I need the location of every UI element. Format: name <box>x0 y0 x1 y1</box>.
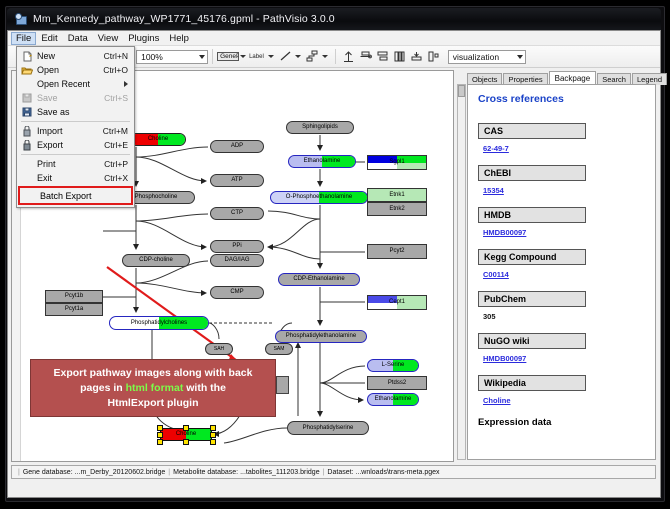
window-body: File Edit Data View Plugins Help Zoom: 1… <box>7 30 661 498</box>
node-pcyt1b[interactable]: Pcyt1b <box>45 290 103 303</box>
callout-line-2-pre: pages in <box>80 382 126 394</box>
chevron-down-icon <box>199 55 205 59</box>
save-icon <box>17 93 37 103</box>
selection-handle-w[interactable] <box>157 432 163 438</box>
xref-label-wikipedia: Wikipedia <box>478 375 586 391</box>
file-menu-batch-export[interactable]: Batch Export <box>18 186 133 205</box>
align-middle-icon[interactable] <box>358 49 373 64</box>
file-menu-open-recent-label: Open Recent <box>37 79 124 89</box>
status-gene-db-value: ...m_Derby_20120602.bridge <box>75 469 166 476</box>
callout-anchor <box>276 376 289 394</box>
stack-icon[interactable] <box>409 49 424 64</box>
file-menu-import-shortcut: Ctrl+M <box>103 126 128 136</box>
menu-plugins[interactable]: Plugins <box>123 32 164 45</box>
node-cdp-ethanolamine[interactable]: CDP-Ethanolamine <box>278 273 360 286</box>
file-menu-new-label: New <box>37 51 104 61</box>
file-menu-open-recent[interactable]: Open Recent <box>17 77 134 91</box>
status-metabolite-db-label: Metabolite database: <box>173 469 238 476</box>
scrollbar-thumb[interactable] <box>458 85 465 97</box>
file-menu-print-shortcut: Ctrl+P <box>104 159 128 169</box>
file-menu-batch-export-label: Batch Export <box>20 191 92 201</box>
selection-handle-nw[interactable] <box>157 425 163 431</box>
node-sah[interactable]: SAH <box>205 343 233 355</box>
selection-handle-e[interactable] <box>210 432 216 438</box>
node-l-serine[interactable]: L-Serine <box>367 359 419 372</box>
file-menu-open-shortcut: Ctrl+O <box>103 65 128 75</box>
interaction-tool-icon[interactable] <box>305 49 320 64</box>
node-phosphatidylethanolamine[interactable]: Phosphatidylethanolamine <box>275 330 367 343</box>
side-panel: Objects Properties Backpage Search Legen… <box>457 70 659 462</box>
file-menu-print[interactable]: Print Ctrl+P <box>17 157 134 171</box>
node-ethanolamine[interactable]: Ethanolamine <box>288 155 356 168</box>
xref-label-pubchem: PubChem <box>478 291 586 307</box>
node-phosphatidylserine[interactable]: Phosphatidylserine <box>287 421 369 435</box>
cross-references-heading: Cross references <box>478 93 655 105</box>
new-document-icon <box>17 51 37 62</box>
node-ctp[interactable]: CTP <box>210 207 264 220</box>
submenu-arrow-icon <box>124 81 128 87</box>
menu-data[interactable]: Data <box>63 32 93 45</box>
toolbar-separator-2 <box>335 49 336 64</box>
menu-bar: File Edit Data View Plugins Help <box>8 31 660 46</box>
zoom-combobox[interactable]: 100% <box>136 50 208 64</box>
align-top-icon[interactable] <box>341 49 356 64</box>
node-ethanolamine-2[interactable]: Ethanolamine <box>367 393 419 406</box>
pathvisio-icon <box>15 13 27 25</box>
application-window: Mm_Kennedy_pathway_WP1771_45176.gpml - P… <box>0 0 670 509</box>
file-menu-new[interactable]: New Ctrl+N <box>17 49 134 63</box>
file-menu-save: Save Ctrl+S <box>17 91 134 105</box>
node-sam[interactable]: SAM <box>265 343 293 355</box>
xref-label-hmdb: HMDB <box>478 207 586 223</box>
node-pcyt2[interactable]: Pcyt2 <box>367 244 427 259</box>
datanode-button[interactable]: GeneProduct <box>217 52 239 61</box>
file-menu-new-shortcut: Ctrl+N <box>104 51 128 61</box>
node-cmp[interactable]: CMP <box>210 286 264 299</box>
selection-handle-s[interactable] <box>183 439 189 445</box>
node-sphingolipids[interactable]: Sphingolipids <box>286 121 354 134</box>
file-menu-exit-shortcut: Ctrl+X <box>104 173 128 183</box>
menu-edit[interactable]: Edit <box>36 32 62 45</box>
status-metabolite-db-value: ...tabolites_111203.bridge <box>240 469 320 476</box>
import-icon <box>17 126 37 137</box>
group-icon[interactable] <box>426 49 441 64</box>
status-dataset-label: Dataset: <box>327 469 353 476</box>
zoom-value: 100% <box>141 52 163 62</box>
file-menu-import[interactable]: Import Ctrl+M <box>17 124 134 138</box>
xref-label-chebi: ChEBI <box>478 165 586 181</box>
file-menu-export-label: Export <box>37 140 104 150</box>
line-tool-icon[interactable] <box>278 49 293 64</box>
node-ppi[interactable]: PPi <box>210 240 264 253</box>
node-sgpl1[interactable]: Sgpl1 <box>367 155 427 170</box>
file-menu-separator-2 <box>21 154 130 155</box>
xref-value-cas[interactable]: 62-49-7 <box>483 144 655 153</box>
node-pcyt1a[interactable]: Pcyt1a <box>45 303 103 316</box>
node-dag[interactable]: DAG/IAG <box>210 254 264 267</box>
file-menu-open-label: Open <box>37 65 103 75</box>
xref-value-nugo[interactable]: HMDB00097 <box>483 354 655 363</box>
file-menu-save-as[interactable]: Save as <box>17 105 134 119</box>
selection-handle-se[interactable] <box>210 439 216 445</box>
datanode-dropdown-icon[interactable] <box>240 55 246 58</box>
file-menu-print-label: Print <box>37 159 104 169</box>
label-dropdown-icon[interactable] <box>268 55 274 58</box>
visualization-value: visualization <box>453 52 499 62</box>
line-dropdown-icon[interactable] <box>295 55 301 58</box>
side-panel-tabs: Objects Properties Backpage Search Legen… <box>467 70 659 85</box>
node-choline-top[interactable]: Choline <box>130 133 186 146</box>
file-menu-save-as-label: Save as <box>37 107 128 117</box>
callout-line-2-post: with the <box>183 382 226 394</box>
side-panel-scrollbar[interactable] <box>457 84 466 460</box>
menu-file[interactable]: File <box>11 32 36 45</box>
file-menu-save-shortcut: Ctrl+S <box>104 93 128 103</box>
selection-handle-ne[interactable] <box>210 425 216 431</box>
xref-label-kegg: Kegg Compound <box>478 249 586 265</box>
title-bar: Mm_Kennedy_pathway_WP1771_45176.gpml - P… <box>7 8 661 30</box>
distribute-horizontal-icon[interactable] <box>375 49 390 64</box>
node-o-phosphoethanolamine[interactable]: O-Phosphoethanolamine <box>270 191 368 204</box>
xref-label-nugo: NuGO wiki <box>478 333 586 349</box>
menu-help[interactable]: Help <box>164 32 194 45</box>
xref-value-hmdb[interactable]: HMDB00097 <box>483 228 655 237</box>
xref-value-kegg[interactable]: C00114 <box>483 270 655 279</box>
status-dataset-value: ...wnloads\trans-meta.pgex <box>355 469 439 476</box>
annotation-callout: Export pathway images along with back pa… <box>30 359 276 417</box>
status-gene-db-label: Gene database: <box>23 469 73 476</box>
file-menu-import-label: Import <box>37 126 103 136</box>
file-menu-popup[interactable]: New Ctrl+N Open Ctrl+O Open Recent Save <box>16 46 135 208</box>
file-menu-separator-1 <box>21 121 130 122</box>
save-as-icon <box>17 107 37 117</box>
node-atp[interactable]: ATP <box>210 174 264 187</box>
file-menu-export-shortcut: Ctrl+E <box>104 140 128 150</box>
xref-value-pubchem: 305 <box>483 312 655 321</box>
callout-line-3: HtmlExport plugin <box>108 397 199 409</box>
visualization-combobox[interactable]: visualization <box>448 50 526 64</box>
toolbar-separator <box>212 49 213 64</box>
export-icon <box>17 140 37 151</box>
status-bar: | Gene database: ...m_Derby_20120602.bri… <box>11 465 656 479</box>
selection-handle-sw[interactable] <box>157 439 163 445</box>
interaction-dropdown-icon[interactable] <box>322 55 328 58</box>
window-title: Mm_Kennedy_pathway_WP1771_45176.gpml - P… <box>33 13 335 25</box>
node-cept1[interactable]: Cept1 <box>367 295 427 310</box>
node-adp[interactable]: ADP <box>210 140 264 153</box>
callout-line-1: Export pathway images along with back <box>54 367 253 379</box>
folder-open-icon <box>17 65 37 76</box>
distribute-vertical-icon[interactable] <box>392 49 407 64</box>
chevron-down-icon-2 <box>517 55 523 59</box>
expression-data-heading: Expression data <box>478 417 655 428</box>
xref-value-wikipedia[interactable]: Choline <box>483 396 655 405</box>
callout-line-2-highlight: html format <box>126 382 184 394</box>
node-phosphatidylcholines[interactable]: Phosphatidylcholines <box>109 316 209 330</box>
selection-handle-n[interactable] <box>183 425 189 431</box>
file-menu-export[interactable]: Export Ctrl+E <box>17 138 134 152</box>
label-button[interactable]: Label <box>249 54 264 60</box>
node-etnk2[interactable]: Etnk2 <box>367 202 427 216</box>
xref-label-cas: CAS <box>478 123 586 139</box>
file-menu-save-label: Save <box>37 93 104 103</box>
tab-backpage[interactable]: Backpage <box>549 71 597 85</box>
menu-view[interactable]: View <box>93 32 123 45</box>
file-menu-exit-label: Exit <box>37 173 104 183</box>
backpage-content: Cross references CAS 62-49-7 ChEBI 15354… <box>467 84 656 460</box>
file-menu-open[interactable]: Open Ctrl+O <box>17 63 134 77</box>
file-menu-exit[interactable]: Exit Ctrl+X <box>17 171 134 185</box>
xref-value-chebi[interactable]: 15354 <box>483 186 655 195</box>
node-etnk1[interactable]: Etnk1 <box>367 188 427 202</box>
node-cdp-choline[interactable]: CDP-choline <box>122 254 190 267</box>
node-ptdss2[interactable]: Ptdss2 <box>367 376 427 390</box>
